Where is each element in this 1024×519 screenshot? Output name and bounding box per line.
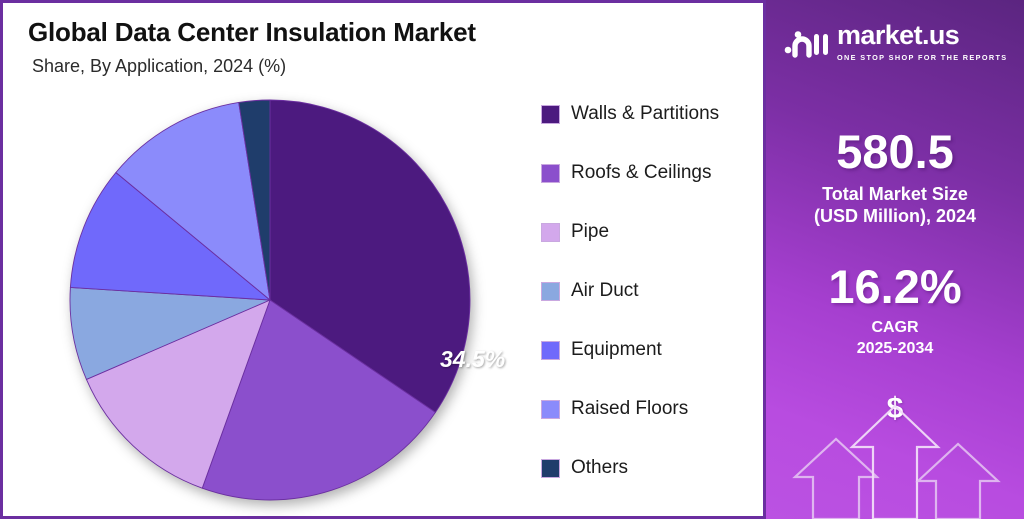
market-size-value: 580.5	[766, 128, 1024, 175]
legend-item[interactable]: Walls & Partitions	[541, 101, 719, 127]
cagr-caption: CAGR 2025-2034	[766, 318, 1024, 360]
legend-swatch-icon	[541, 282, 560, 301]
chart-legend: Walls & PartitionsRoofs & CeilingsPipeAi…	[541, 101, 719, 514]
pie-slice-group	[70, 100, 470, 500]
legend-item-label: Equipment	[571, 339, 662, 361]
legend-item[interactable]: Raised Floors	[541, 396, 719, 422]
legend-item[interactable]: Air Duct	[541, 278, 719, 304]
legend-swatch-icon	[541, 459, 560, 478]
legend-item-label: Others	[571, 457, 628, 479]
market-size-caption-line2: (USD Million), 2024	[766, 206, 1024, 228]
legend-item[interactable]: Equipment	[541, 337, 719, 363]
chart-panel: Global Data Center Insulation Market Sha…	[0, 0, 766, 519]
legend-item-label: Walls & Partitions	[571, 103, 719, 125]
title-block: Global Data Center Insulation Market Sha…	[28, 17, 476, 77]
cagr-value: 16.2%	[766, 263, 1024, 310]
pie-chart: 34.5%	[65, 96, 475, 508]
page-subtitle: Share, By Application, 2024 (%)	[32, 56, 476, 77]
legend-item-label: Air Duct	[571, 280, 639, 302]
legend-swatch-icon	[541, 341, 560, 360]
market-us-logo-icon	[784, 25, 830, 59]
market-size-caption: Total Market Size (USD Million), 2024	[766, 184, 1024, 228]
growth-arrows-icon	[766, 389, 1024, 519]
brand-stats-panel: market.us ONE STOP SHOP FOR THE REPORTS …	[766, 0, 1024, 519]
legend-swatch-icon	[541, 164, 560, 183]
legend-item-label: Raised Floors	[571, 398, 688, 420]
page-title: Global Data Center Insulation Market	[28, 17, 476, 48]
legend-item-label: Roofs & Ceilings	[571, 162, 711, 184]
brand-tagline: ONE STOP SHOP FOR THE REPORTS	[837, 53, 1008, 62]
legend-swatch-icon	[541, 223, 560, 242]
legend-swatch-icon	[541, 400, 560, 419]
cagr-caption-line2: 2025-2034	[766, 339, 1024, 360]
pie-chart-svg	[65, 96, 475, 508]
cagr-caption-line1: CAGR	[766, 318, 1024, 339]
market-size-stat: 580.5 Total Market Size (USD Million), 2…	[766, 128, 1024, 228]
market-size-caption-line1: Total Market Size	[766, 184, 1024, 206]
legend-swatch-icon	[541, 105, 560, 124]
legend-item[interactable]: Others	[541, 455, 719, 481]
legend-item[interactable]: Roofs & Ceilings	[541, 160, 719, 186]
brand-name: market.us	[837, 22, 1008, 49]
cagr-stat: 16.2% CAGR 2025-2034	[766, 263, 1024, 360]
legend-item[interactable]: Pipe	[541, 219, 719, 245]
infographic-root: Global Data Center Insulation Market Sha…	[0, 0, 1024, 519]
legend-item-label: Pipe	[571, 221, 609, 243]
brand-text-block: market.us ONE STOP SHOP FOR THE REPORTS	[837, 22, 1008, 62]
brand-logo[interactable]: market.us ONE STOP SHOP FOR THE REPORTS	[784, 22, 1008, 62]
pie-slice-label-walls: 34.5%	[440, 346, 505, 373]
